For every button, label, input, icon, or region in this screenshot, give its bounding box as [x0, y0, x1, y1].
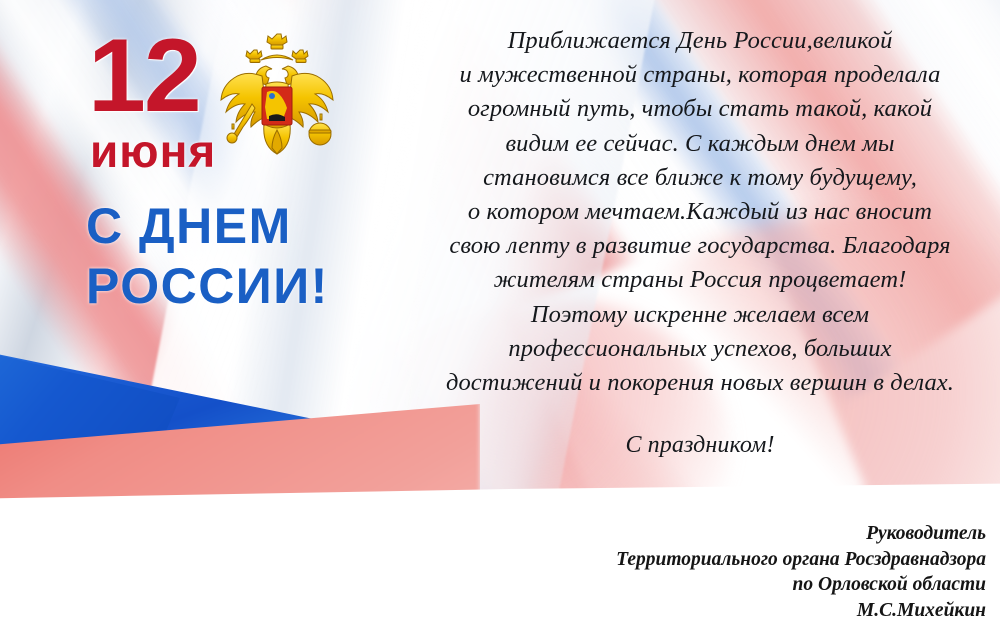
message-line: Приближается День России,великой: [404, 24, 996, 58]
message-line: видим ее сейчас. С каждым днем мы: [404, 127, 996, 161]
greeting-heading: С ДНЕМРОССИИ!: [86, 196, 329, 316]
message-line: о котором мечтаем.Каждый из нас вносит: [404, 195, 996, 229]
closing-line: С праздником!: [404, 428, 996, 462]
message-line: жителям страны Россия процветает!: [404, 263, 996, 297]
russian-coat-of-arms-icon: [214, 26, 340, 176]
message-line: становимся все ближе к тому будущему,: [404, 161, 996, 195]
signature-line-region: по Орловской области: [616, 572, 986, 598]
message-body: Приближается День России,великой и мужес…: [404, 24, 996, 400]
message-line: профессиональных успехов, больших: [404, 332, 996, 366]
greeting-line-1: С ДНЕМ: [86, 198, 292, 254]
message-line: свою лепту в развитие государства. Благо…: [404, 229, 996, 263]
month-label: июня: [90, 128, 216, 174]
message-line: Поэтому искренне желаем всем: [404, 298, 996, 332]
headline-block: 12 июня: [0, 0, 400, 500]
message-line: достижений и покорения новых вершин в де…: [404, 366, 996, 400]
signature-line-title: Руководитель: [616, 521, 986, 547]
signature-line-organization: Территориального органа Росздравнадзора: [616, 547, 986, 573]
signature-line-name: М.С.Михейкин: [616, 598, 986, 624]
signature-block: Руководитель Территориального органа Рос…: [616, 521, 986, 623]
message-line: огромный путь, чтобы стать такой, какой: [404, 92, 996, 126]
greeting-line-2: РОССИИ!: [86, 258, 329, 314]
congratulation-message: Приближается День России,великой и мужес…: [404, 24, 996, 462]
message-line: и мужественной страны, которая проделала: [404, 58, 996, 92]
greeting-card: 12 июня: [0, 0, 1000, 633]
day-number: 12: [88, 24, 200, 128]
